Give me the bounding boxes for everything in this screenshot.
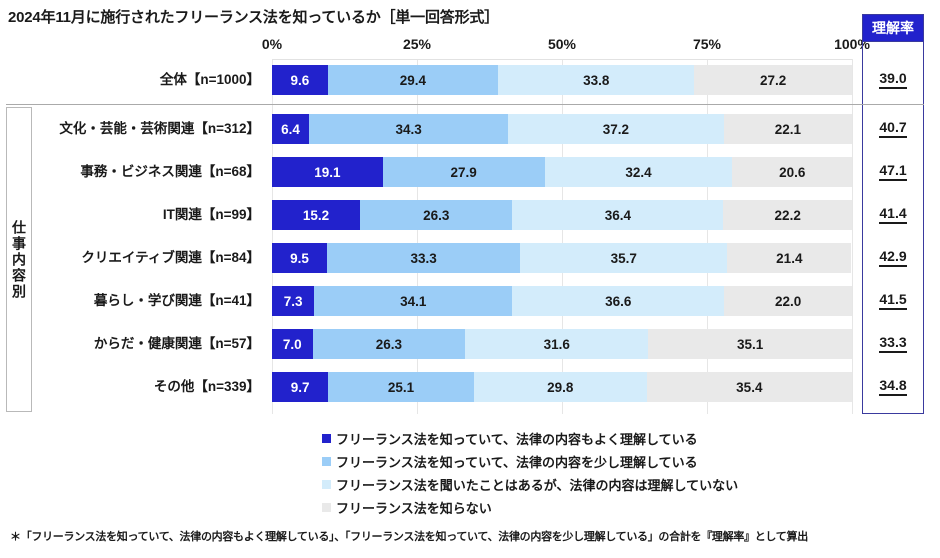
row-label: からだ・健康関連【n=57】 bbox=[34, 326, 266, 362]
chart-row: その他【n=339】9.725.129.835.434.8 bbox=[0, 369, 940, 405]
legend-label: フリーランス法を知っていて、法律の内容を少し理解している bbox=[336, 452, 698, 471]
legend-label: フリーランス法を知らない bbox=[336, 498, 492, 517]
understanding-rate-value: 34.8 bbox=[862, 369, 924, 405]
understanding-rate-text: 33.3 bbox=[879, 335, 906, 352]
plot-top-rule bbox=[272, 59, 852, 60]
row-label: 暮らし・学び関連【n=41】 bbox=[34, 283, 266, 319]
bar-segment-4: 22.0 bbox=[724, 286, 852, 316]
understanding-rate-value: 42.9 bbox=[862, 240, 924, 276]
bar-segment-3: 29.8 bbox=[474, 372, 647, 402]
bar-segment-4: 22.2 bbox=[723, 200, 852, 230]
total-row-separator bbox=[6, 104, 924, 105]
bar-segment-1: 6.4 bbox=[272, 114, 309, 144]
bar-segment-4: 21.4 bbox=[727, 243, 851, 273]
understanding-rate-value: 33.3 bbox=[862, 326, 924, 362]
understanding-rate-value: 41.5 bbox=[862, 283, 924, 319]
bar-segment-1: 9.6 bbox=[272, 65, 328, 95]
chart-legend: フリーランス法を知っていて、法律の内容もよく理解しているフリーランス法を知ってい… bbox=[322, 427, 842, 519]
stacked-bar: 9.533.335.721.4 bbox=[272, 243, 852, 273]
bar-segment-4: 27.2 bbox=[694, 65, 852, 95]
row-label: IT関連【n=99】 bbox=[34, 197, 266, 233]
bar-segment-1: 15.2 bbox=[272, 200, 360, 230]
bar-segment-4: 20.6 bbox=[732, 157, 851, 187]
bar-segment-3: 37.2 bbox=[508, 114, 724, 144]
stacked-bar: 9.629.433.827.2 bbox=[272, 65, 852, 95]
understanding-rate-text: 47.1 bbox=[879, 163, 906, 180]
bar-segment-2: 29.4 bbox=[328, 65, 499, 95]
bar-segment-4: 35.1 bbox=[648, 329, 852, 359]
bar-segment-2: 34.1 bbox=[314, 286, 512, 316]
stacked-bar: 7.334.136.622.0 bbox=[272, 286, 852, 316]
bar-segment-2: 34.3 bbox=[309, 114, 508, 144]
row-label: 事務・ビジネス関連【n=68】 bbox=[34, 154, 266, 190]
bar-segment-1: 9.7 bbox=[272, 372, 328, 402]
x-axis-tick-25: 25% bbox=[403, 36, 431, 52]
chart-row: クリエイティブ関連【n=84】9.533.335.721.442.9 bbox=[0, 240, 940, 276]
chart-row: 文化・芸能・芸術関連【n=312】6.434.337.222.140.7 bbox=[0, 111, 940, 147]
x-axis-tick-75: 75% bbox=[693, 36, 721, 52]
stacked-bar: 19.127.932.420.6 bbox=[272, 157, 852, 187]
chart-row: からだ・健康関連【n=57】7.026.331.635.133.3 bbox=[0, 326, 940, 362]
x-axis-tick-labels: 0%25%50%75%100% bbox=[0, 36, 940, 56]
understanding-rate-value: 39.0 bbox=[862, 62, 924, 98]
legend-item: フリーランス法を知っていて、法律の内容もよく理解している bbox=[322, 427, 842, 450]
understanding-rate-text: 42.9 bbox=[879, 249, 906, 266]
stacked-bar: 7.026.331.635.1 bbox=[272, 329, 852, 359]
bar-segment-2: 26.3 bbox=[360, 200, 512, 230]
chart-row: IT関連【n=99】15.226.336.422.241.4 bbox=[0, 197, 940, 233]
understanding-rate-text: 34.8 bbox=[879, 378, 906, 395]
legend-swatch-icon bbox=[322, 480, 331, 489]
bar-segment-1: 9.5 bbox=[272, 243, 327, 273]
chart-row: 事務・ビジネス関連【n=68】19.127.932.420.647.1 bbox=[0, 154, 940, 190]
chart-row: 全体【n=1000】9.629.433.827.239.0 bbox=[0, 62, 940, 98]
legend-label: フリーランス法を聞いたことはあるが、法律の内容は理解していない bbox=[336, 475, 738, 494]
chart-row: 暮らし・学び関連【n=41】7.334.136.622.041.5 bbox=[0, 283, 940, 319]
bar-segment-4: 22.1 bbox=[724, 114, 852, 144]
understanding-rate-text: 41.4 bbox=[879, 206, 906, 223]
understanding-rate-value: 41.4 bbox=[862, 197, 924, 233]
stacked-bar: 15.226.336.422.2 bbox=[272, 200, 852, 230]
legend-item: フリーランス法を聞いたことはあるが、法律の内容は理解していない bbox=[322, 473, 842, 496]
bar-segment-3: 33.8 bbox=[498, 65, 694, 95]
stacked-bar: 6.434.337.222.1 bbox=[272, 114, 852, 144]
understanding-rate-value: 40.7 bbox=[862, 111, 924, 147]
row-label: 文化・芸能・芸術関連【n=312】 bbox=[34, 111, 266, 147]
legend-swatch-icon bbox=[322, 434, 331, 443]
bar-segment-1: 19.1 bbox=[272, 157, 383, 187]
row-label: その他【n=339】 bbox=[34, 369, 266, 405]
footnote: ＊「フリーランス法を知っていて、法律の内容もよく理解している」、「フリーランス法… bbox=[10, 528, 808, 544]
understanding-rate-text: 40.7 bbox=[879, 120, 906, 137]
bar-segment-1: 7.0 bbox=[272, 329, 313, 359]
understanding-rate-header: 理解率 bbox=[862, 14, 924, 42]
bar-segment-2: 26.3 bbox=[313, 329, 466, 359]
bar-segment-4: 35.4 bbox=[647, 372, 852, 402]
legend-label: フリーランス法を知っていて、法律の内容もよく理解している bbox=[336, 429, 698, 448]
bar-segment-2: 25.1 bbox=[328, 372, 474, 402]
bar-segment-2: 33.3 bbox=[327, 243, 520, 273]
legend-swatch-icon bbox=[322, 457, 331, 466]
bar-segment-3: 35.7 bbox=[520, 243, 727, 273]
row-label: クリエイティブ関連【n=84】 bbox=[34, 240, 266, 276]
stacked-bar: 9.725.129.835.4 bbox=[272, 372, 852, 402]
page-title: 2024年11月に施行されたフリーランス法を知っているか［単一回答形式］ bbox=[8, 6, 499, 27]
understanding-rate-text: 41.5 bbox=[879, 292, 906, 309]
legend-item: フリーランス法を知らない bbox=[322, 496, 842, 519]
bar-segment-1: 7.3 bbox=[272, 286, 314, 316]
understanding-rate-text: 39.0 bbox=[879, 71, 906, 88]
bar-segment-3: 36.4 bbox=[512, 200, 723, 230]
bar-segment-3: 32.4 bbox=[545, 157, 733, 187]
row-label: 全体【n=1000】 bbox=[34, 62, 266, 98]
bar-segment-3: 36.6 bbox=[512, 286, 724, 316]
x-axis-tick-0: 0% bbox=[262, 36, 282, 52]
legend-item: フリーランス法を知っていて、法律の内容を少し理解している bbox=[322, 450, 842, 473]
legend-swatch-icon bbox=[322, 503, 331, 512]
bar-segment-3: 31.6 bbox=[465, 329, 648, 359]
x-axis-tick-50: 50% bbox=[548, 36, 576, 52]
understanding-rate-value: 47.1 bbox=[862, 154, 924, 190]
bar-segment-2: 27.9 bbox=[383, 157, 545, 187]
